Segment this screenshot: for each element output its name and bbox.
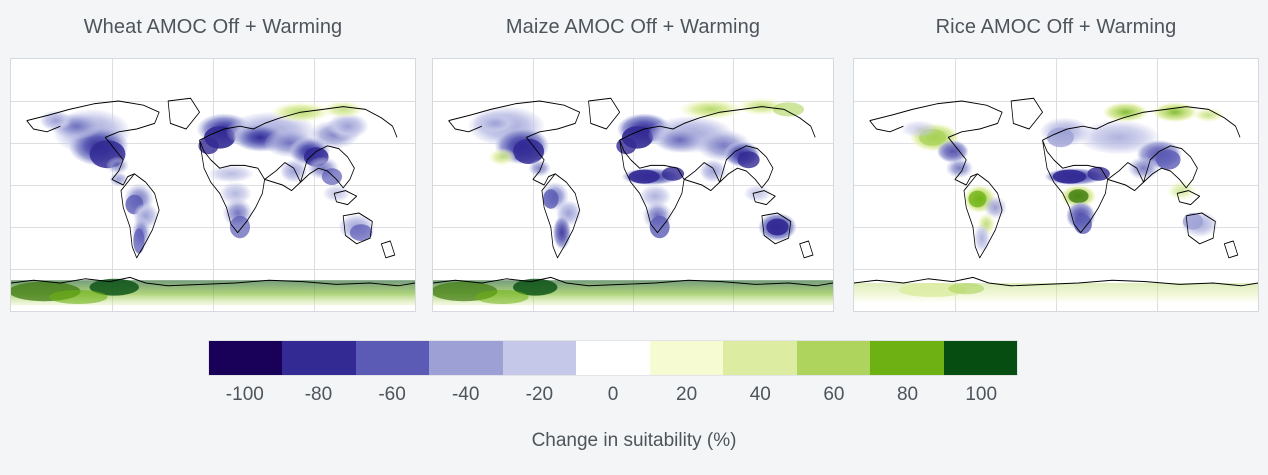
colorbar-band-1 xyxy=(282,341,355,375)
colorbar-band-4 xyxy=(503,341,576,375)
colorbar-tick-80: 80 xyxy=(897,384,918,406)
colorbar xyxy=(208,340,1018,376)
colorbar-tick--20: -20 xyxy=(526,384,553,406)
panel-title-wheat: Wheat AMOC Off + Warming xyxy=(10,16,416,39)
colorbar-tick--60: -60 xyxy=(378,384,405,406)
colorbar-tick-0: 0 xyxy=(608,384,619,406)
colorbar-band-9 xyxy=(870,341,943,375)
colorbar-axis-label: Change in suitability (%) xyxy=(0,430,1268,452)
suitability-raster-maize xyxy=(433,59,833,311)
colorbar-tick--40: -40 xyxy=(452,384,479,406)
colorbar-band-10 xyxy=(944,341,1017,375)
map-canvas-rice xyxy=(854,59,1258,311)
colorbar-tick-40: 40 xyxy=(750,384,771,406)
suitability-raster-rice xyxy=(854,59,1258,311)
map-canvas-maize xyxy=(433,59,833,311)
colorbar-band-7 xyxy=(723,341,796,375)
colorbar-tick-100: 100 xyxy=(965,384,997,406)
colorbar-band-5 xyxy=(576,341,649,375)
map-panel-rice xyxy=(853,58,1259,312)
colorbar-tick--100: -100 xyxy=(226,384,264,406)
colorbar-tick--80: -80 xyxy=(305,384,332,406)
colorbar-tick-labels: -100-80-60-40-20020406080100 xyxy=(208,384,1018,412)
map-panel-wheat xyxy=(10,58,416,312)
panel-titles: Wheat AMOC Off + Warming Maize AMOC Off … xyxy=(0,16,1268,46)
colorbar-band-6 xyxy=(650,341,723,375)
figure-root: Wheat AMOC Off + Warming Maize AMOC Off … xyxy=(0,0,1268,475)
colorbar-tick-60: 60 xyxy=(823,384,844,406)
colorbar-band-2 xyxy=(356,341,429,375)
colorbar-strip xyxy=(208,340,1018,376)
colorbar-tick-20: 20 xyxy=(676,384,697,406)
suitability-raster-wheat xyxy=(11,59,415,311)
map-canvas-wheat xyxy=(11,59,415,311)
colorbar-band-8 xyxy=(797,341,870,375)
panel-title-maize: Maize AMOC Off + Warming xyxy=(432,16,834,39)
panel-title-rice: Rice AMOC Off + Warming xyxy=(853,16,1259,39)
colorbar-band-0 xyxy=(209,341,282,375)
colorbar-band-3 xyxy=(429,341,502,375)
map-panel-maize xyxy=(432,58,834,312)
